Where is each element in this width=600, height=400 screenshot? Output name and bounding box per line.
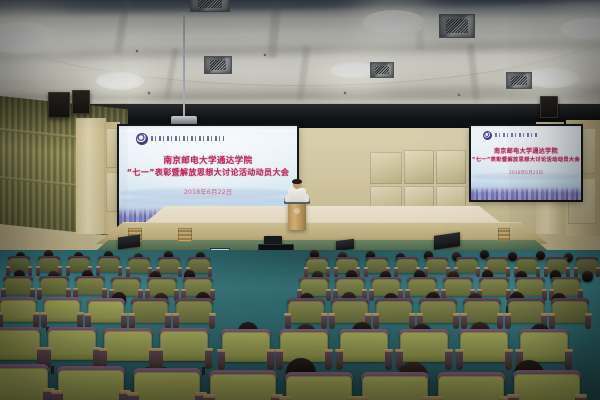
side-slide-date: 2018年6月22日 [471, 170, 581, 176]
hvac-vent [370, 62, 394, 78]
wall-column [76, 118, 106, 234]
auditorium-seat[interactable] [128, 259, 150, 277]
epson-projector [171, 116, 197, 125]
auditorium-seat[interactable] [160, 331, 208, 369]
wall-mounted-speaker [72, 90, 90, 114]
slide-cityscape-graphic [471, 181, 581, 200]
auditorium-seat[interactable] [514, 374, 580, 400]
auditorium-seat[interactable] [176, 301, 212, 329]
auditorium-seat[interactable] [210, 374, 276, 400]
university-emblem-icon [136, 133, 148, 145]
slide-date: 2018年6月22日 [119, 186, 297, 196]
auditorium-seat[interactable] [426, 259, 448, 277]
wall-panel [106, 128, 118, 168]
wall-mounted-speaker [540, 96, 558, 118]
auditorium-seat[interactable] [222, 332, 270, 370]
auditorium-seat[interactable] [456, 259, 478, 277]
ceiling-light [524, 68, 580, 88]
university-emblem-icon [483, 131, 492, 140]
hvac-vent [439, 14, 475, 38]
auditorium-seat[interactable] [134, 372, 200, 400]
auditorium-seat[interactable] [88, 301, 124, 329]
auditorium-seat[interactable] [132, 301, 168, 329]
auditorium-seat[interactable] [0, 368, 48, 400]
wall-block [370, 152, 402, 184]
auditorium-seat[interactable] [104, 331, 152, 369]
auditorium-seat[interactable] [58, 370, 124, 400]
side-slide-title-line1: 南京邮电大学通达学院 [471, 146, 581, 155]
auditorium-seat[interactable] [438, 376, 504, 400]
auditorium-seat[interactable] [552, 301, 588, 329]
hvac-vent [190, 0, 230, 12]
university-emblem-row [483, 131, 539, 139]
university-name-calligraphy [151, 136, 224, 141]
stage-step [178, 228, 192, 242]
lectern [288, 202, 306, 230]
hvac-vent [506, 72, 532, 89]
ceiling-light [96, 72, 144, 90]
slide-title-line1: 南京邮电大学通达学院 [119, 154, 297, 166]
wall-block [436, 150, 466, 184]
auditorium-seat[interactable] [98, 258, 120, 276]
auditorium-seat[interactable] [48, 330, 96, 368]
auditorium-seat[interactable] [76, 278, 104, 300]
wall-block [404, 150, 434, 184]
hvac-vent [204, 56, 232, 74]
projector-mount-pole [183, 12, 185, 118]
auditorium-seat[interactable] [0, 330, 40, 368]
auditorium-seat[interactable] [362, 376, 428, 400]
lectern-emblem [294, 208, 300, 214]
wall-panel [106, 172, 118, 212]
auditorium-seat[interactable] [286, 376, 352, 400]
slide-title-line2: “七一”表彰暨解放思想大讨论活动动员大会 [119, 167, 297, 178]
auditorium-photo: 南京邮电大学通达学院 “七一”表彰暨解放思想大讨论活动动员大会 2018年6月2… [0, 0, 600, 400]
auditorium-seat[interactable] [460, 332, 508, 370]
side-projection-screen: 南京邮电大学通达学院 “七一”表彰暨解放思想大讨论活动动员大会 2018年6月2… [471, 126, 581, 200]
auditorium-seat[interactable] [0, 300, 36, 328]
auditorium-seat[interactable] [158, 259, 180, 277]
auditorium-seat[interactable] [376, 301, 412, 329]
stage-step [498, 228, 510, 241]
auditorium-seat[interactable] [44, 300, 80, 328]
university-emblem-row [136, 133, 224, 144]
side-slide-title-line2: “七一”表彰暨解放思想大讨论活动动员大会 [471, 156, 581, 163]
wall-mounted-speaker [48, 92, 70, 118]
auditorium-seat[interactable] [340, 332, 388, 370]
speaker-hair [292, 179, 302, 184]
ceiling-light [362, 10, 426, 36]
university-name-calligraphy [495, 133, 539, 137]
